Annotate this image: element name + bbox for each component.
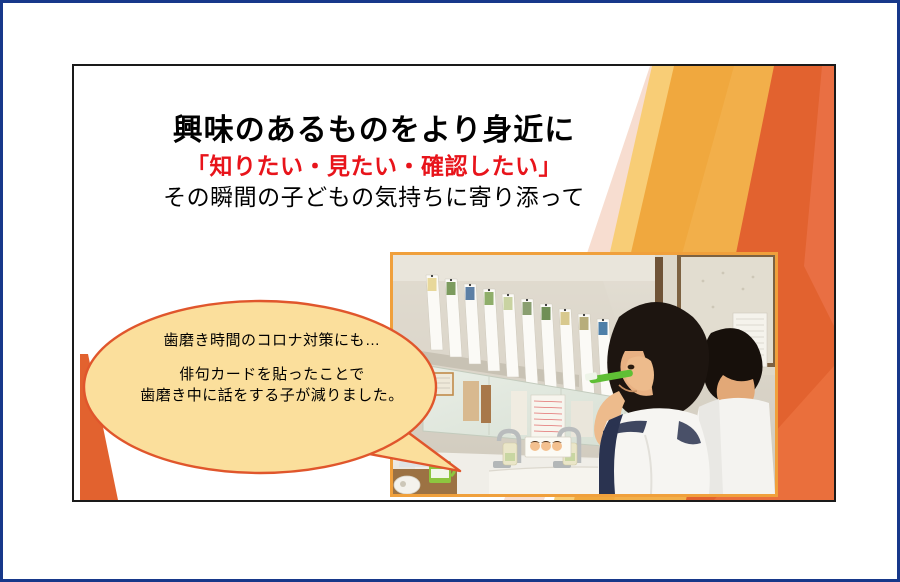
bubble-line-2: 俳句カードを貼ったことで	[104, 365, 440, 385]
speech-bubble: 歯磨き時間のコロナ対策にも… 俳句カードを貼ったことで 歯磨き中に話をする子が減…	[82, 295, 462, 485]
speech-bubble-text: 歯磨き時間のコロナ対策にも… 俳句カードを貼ったことで 歯磨き中に話をする子が減…	[104, 331, 440, 406]
bubble-line-1: 歯磨き時間のコロナ対策にも…	[104, 331, 440, 351]
page-title: 興味のあるものをより身近に	[74, 113, 674, 150]
page-root: 興味のあるものをより身近に 「知りたい・見たい・確認したい」 その瞬間の子どもの…	[0, 0, 900, 582]
title-block: 興味のあるものをより身近に 「知りたい・見たい・確認したい」 その瞬間の子どもの…	[74, 113, 674, 213]
bubble-line-3: 歯磨き中に話をする子が減りました。	[104, 386, 440, 406]
title-subline: その瞬間の子どもの気持ちに寄り添って	[74, 183, 674, 213]
slide-canvas: 興味のあるものをより身近に 「知りたい・見たい・確認したい」 その瞬間の子どもの…	[74, 66, 834, 500]
presentation-slide: 興味のあるものをより身近に 「知りたい・見たい・確認したい」 その瞬間の子どもの…	[72, 64, 836, 502]
title-subline-red: 「知りたい・見たい・確認したい」	[74, 152, 674, 182]
